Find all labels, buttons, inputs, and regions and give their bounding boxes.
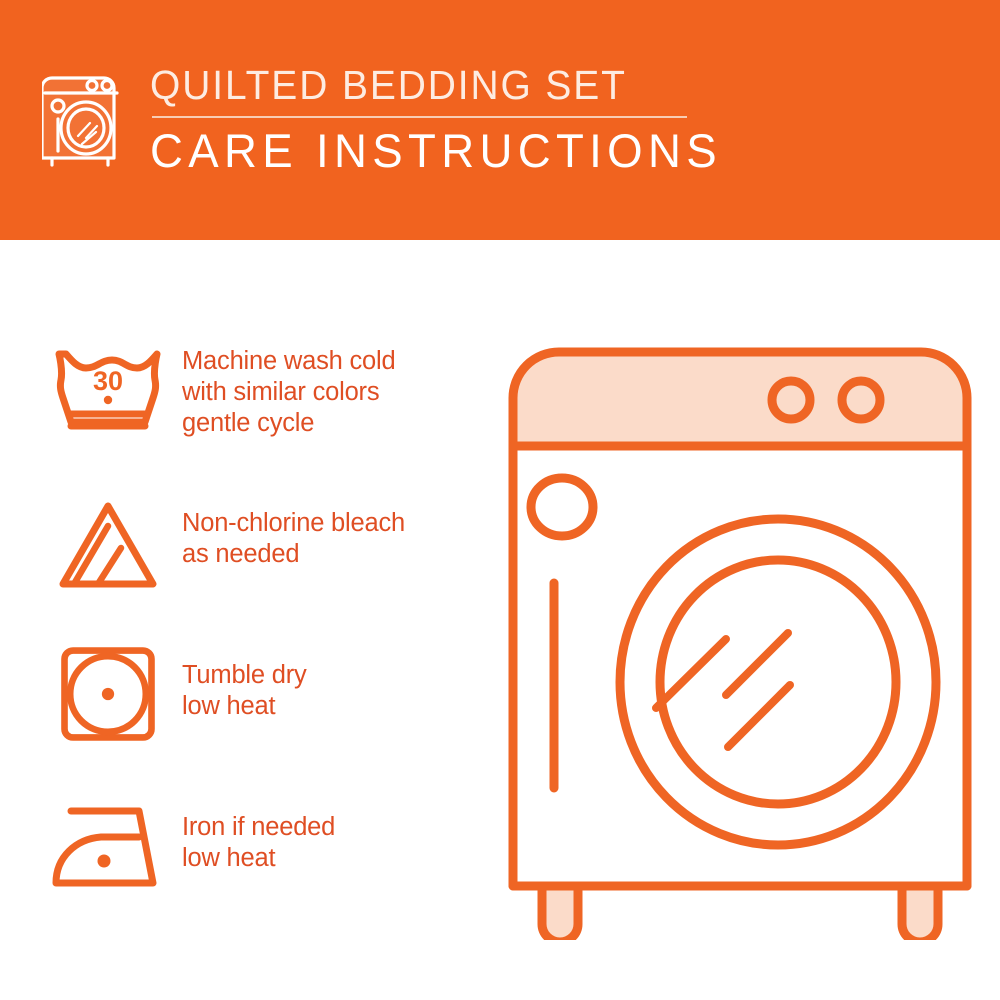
wash-temperature-label: 30 <box>92 366 122 396</box>
care-item-machine-wash: 30 Machine wash cold with similar colors… <box>45 330 475 480</box>
machine-wash-cold-icon: 30 <box>45 338 170 450</box>
care-item-text: Non-chlorine bleach as needed <box>182 480 405 570</box>
care-text-line: as needed <box>182 539 405 570</box>
care-item-text: Iron if needed low heat <box>182 780 335 874</box>
iron-low-heat-icon <box>45 790 170 902</box>
washing-machine-icon <box>42 66 128 170</box>
door-shine-lines <box>656 633 790 747</box>
washing-machine-illustration <box>490 330 990 940</box>
care-instruction-list: 30 Machine wash cold with similar colors… <box>45 330 475 930</box>
title-divider <box>152 116 687 118</box>
tumble-dry-low-icon <box>45 638 170 750</box>
care-text-line: Machine wash cold <box>182 346 395 377</box>
page-subtitle: CARE INSTRUCTIONS <box>150 125 722 177</box>
care-item-text: Machine wash cold with similar colors ge… <box>182 330 395 439</box>
control-panel <box>513 352 967 446</box>
power-button <box>531 478 593 536</box>
care-item-text: Tumble dry low heat <box>182 630 307 722</box>
page-title: QUILTED BEDDING SET <box>150 62 710 108</box>
door-inner-ring <box>660 560 896 804</box>
care-text-line: Non-chlorine bleach <box>182 508 405 539</box>
header-title-group: QUILTED BEDDING SET CARE INSTRUCTIONS <box>150 62 740 177</box>
care-text-line: Iron if needed <box>182 812 335 843</box>
care-item-bleach: Non-chlorine bleach as needed <box>45 480 475 630</box>
care-item-iron: Iron if needed low heat <box>45 780 475 930</box>
care-item-tumble-dry: Tumble dry low heat <box>45 630 475 780</box>
foot-right <box>902 886 938 940</box>
door-outer-ring <box>620 519 936 845</box>
non-chlorine-bleach-icon <box>45 490 170 602</box>
care-text-line: low heat <box>182 843 335 874</box>
header-content: QUILTED BEDDING SET CARE INSTRUCTIONS <box>42 62 740 177</box>
care-text-line: gentle cycle <box>182 408 395 439</box>
care-text-line: with similar colors <box>182 377 395 408</box>
care-text-line: low heat <box>182 691 307 722</box>
foot-left <box>542 886 578 940</box>
care-text-line: Tumble dry <box>182 660 307 691</box>
header-banner: QUILTED BEDDING SET CARE INSTRUCTIONS <box>0 0 1000 240</box>
